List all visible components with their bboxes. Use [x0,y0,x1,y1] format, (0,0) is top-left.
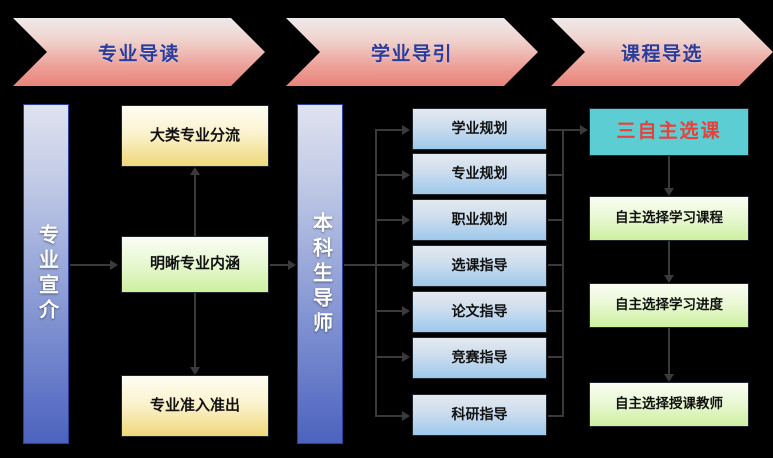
connector-mentor-spine [375,129,377,417]
node-label: 论文指导 [452,303,508,321]
node-label: 专业宣介 [34,224,59,324]
node-course-item-2[interactable]: 自主选择学习进度 [589,283,749,328]
arrowhead-course-3 [664,374,674,382]
arrowhead-branch-1 [402,125,410,135]
banner-label: 课程导选 [621,39,703,66]
banner-label: 专业导读 [98,39,180,66]
node-label: 自主选择授课教师 [615,396,723,413]
connector-connotation-to-entry-exit [194,293,196,367]
connector-merge-to-course [562,129,581,131]
banner-chevron-2: 学业导引 [286,18,538,86]
arrowhead-branch-3 [402,215,410,225]
connector-branch-1 [375,129,403,131]
node-label: 明晰专业内涵 [150,255,240,274]
node-guidance-7[interactable]: 科研指导 [412,394,547,436]
node-guidance-6[interactable]: 竞赛指导 [412,337,547,379]
banner-label: 学业导引 [371,39,453,66]
arrowhead-branch-4 [402,260,410,270]
diagram-canvas: 专业导读 学业导引 课程导选 专业宣介 大类专业分流 明晰专业内涵 专业准入准出… [0,0,773,458]
node-label: 专业准入准出 [150,397,240,416]
arrowhead-merge-to-course [580,125,588,135]
connector-intro-to-connotation [70,264,110,266]
arrowhead-connotation-to-streaming [190,167,200,175]
node-label: 专业规划 [452,165,508,183]
arrowhead-branch-7 [402,411,410,421]
arrowhead-course-2 [664,275,674,283]
connector-course-2 [668,241,670,275]
node-course-item-3[interactable]: 自主选择授课教师 [589,382,749,427]
node-label: 自主选择学习课程 [615,210,723,227]
node-guidance-4[interactable]: 选课指导 [412,245,547,287]
connector-branch-3 [375,219,403,221]
arrowhead-connotation-to-mentor [288,260,296,270]
node-label: 本科生导师 [308,212,333,337]
arrowhead-intro-to-connotation [110,260,118,270]
node-label: 大类专业分流 [150,127,240,146]
connector-branch-2 [375,174,403,176]
connector-course-1 [668,156,670,188]
arrowhead-branch-2 [402,170,410,180]
node-major-intro[interactable]: 专业宣介 [23,104,69,444]
node-major-connotation[interactable]: 明晰专业内涵 [121,236,269,293]
connector-branch-4 [375,264,403,266]
banner-chevron-3: 课程导选 [551,18,773,86]
node-label: 科研指导 [452,406,508,424]
connector-branch-5 [375,310,403,312]
arrowhead-branch-5 [402,306,410,316]
connector-course-3 [668,328,670,374]
node-label: 三自主选课 [616,120,721,144]
node-course-header[interactable]: 三自主选课 [589,108,749,156]
node-major-entry-exit[interactable]: 专业准入准出 [121,375,269,437]
arrowhead-connotation-to-entry-exit [190,367,200,375]
node-guidance-2[interactable]: 专业规划 [412,153,547,195]
node-label: 竞赛指导 [452,349,508,367]
connector-branch-6 [375,356,403,358]
arrowhead-course-1 [664,188,674,196]
connector-connotation-to-streaming [194,175,196,236]
node-label: 选课指导 [452,257,508,275]
node-major-streaming[interactable]: 大类专业分流 [121,105,269,167]
node-course-item-1[interactable]: 自主选择学习课程 [589,196,749,241]
connector-branch-7 [375,415,403,417]
node-label: 职业规划 [452,211,508,229]
node-label: 学业规划 [452,120,508,138]
arrowhead-branch-6 [402,352,410,362]
node-undergraduate-mentor[interactable]: 本科生导师 [297,104,343,444]
banner-chevron-1: 专业导读 [13,18,265,86]
connector-merge-spine [562,129,564,417]
node-guidance-3[interactable]: 职业规划 [412,199,547,241]
node-guidance-1[interactable]: 学业规划 [412,108,547,150]
node-guidance-5[interactable]: 论文指导 [412,291,547,333]
connector-mentor-spine-stub [344,264,376,266]
node-label: 自主选择学习进度 [615,297,723,314]
